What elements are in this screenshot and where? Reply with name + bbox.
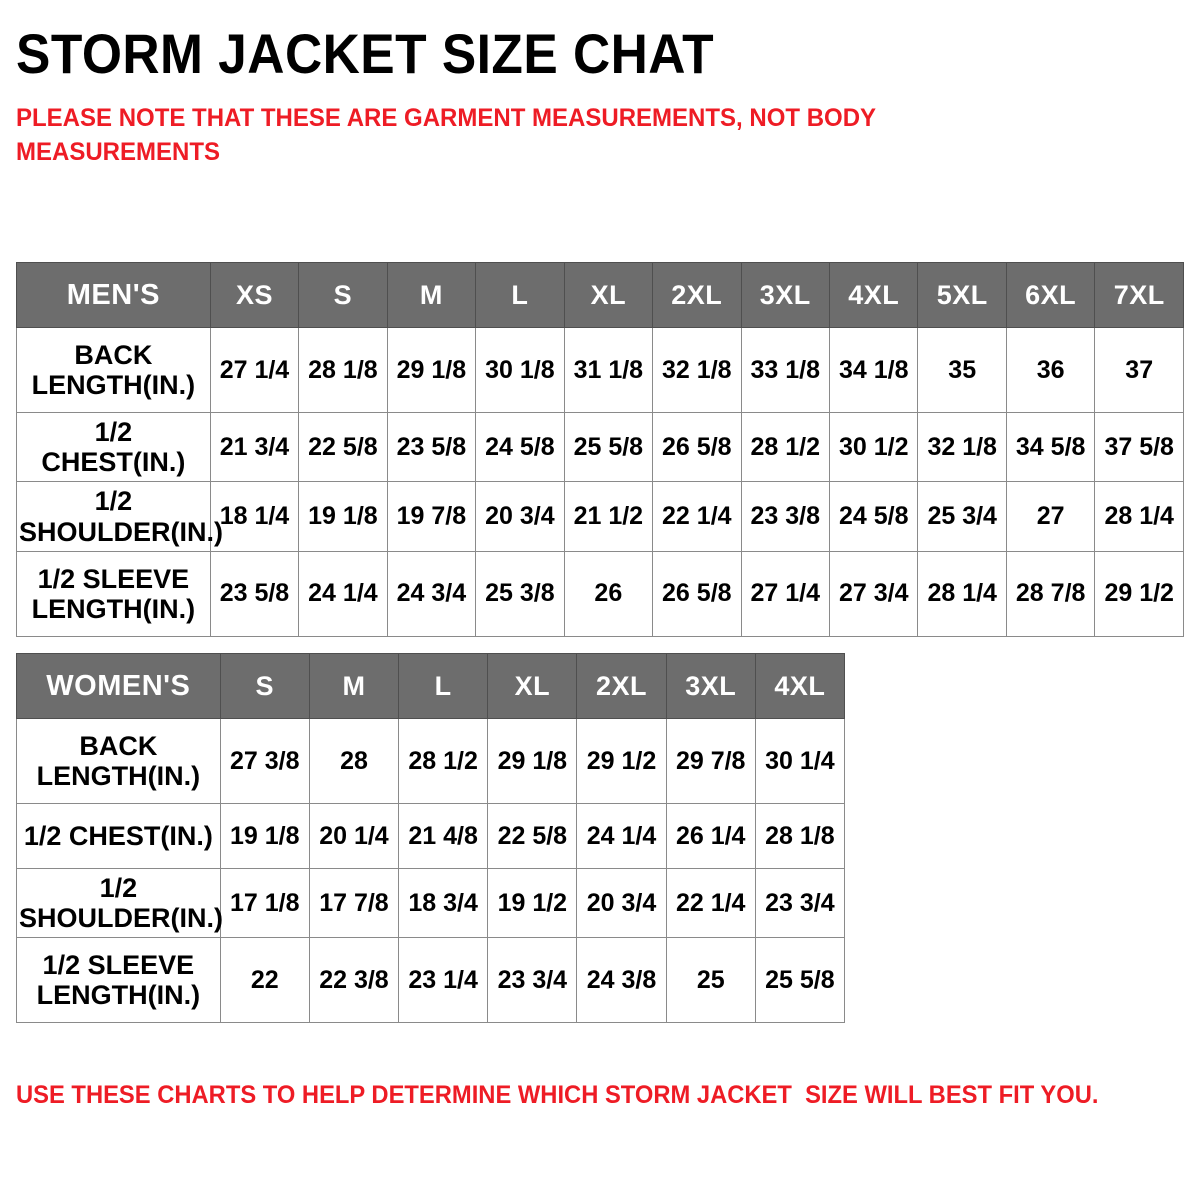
mens-size-table-container: MEN'S XS S M L XL 2XL 3XL 4XL 5XL 6XL 7X… bbox=[16, 262, 1184, 637]
mens-header-size-l: L bbox=[476, 263, 564, 328]
cell-mens-half-chest-s: 22 5/8 bbox=[299, 413, 387, 482]
mens-row-label-back-length: BACK LENGTH(IN.) bbox=[17, 328, 211, 413]
cell-womens-half-chest-4xl: 28 1/8 bbox=[755, 804, 844, 869]
mens-size-table: MEN'S XS S M L XL 2XL 3XL 4XL 5XL 6XL 7X… bbox=[16, 262, 1184, 637]
cell-womens-back-length-4xl: 30 1/4 bbox=[755, 719, 844, 804]
cell-womens-half-shoulder-xl: 19 1/2 bbox=[488, 869, 577, 938]
label-line-2: LENGTH(IN.) bbox=[32, 594, 195, 624]
table-row: 1/2 SLEEVE LENGTH(IN.) 22 22 3/8 23 1/4 … bbox=[17, 938, 845, 1023]
label-line-1: 1/2 SLEEVE bbox=[38, 564, 190, 594]
womens-header-label: WOMEN'S bbox=[17, 654, 221, 719]
cell-womens-back-length-2xl: 29 1/2 bbox=[577, 719, 666, 804]
womens-header-size-m: M bbox=[309, 654, 398, 719]
cell-mens-half-sleeve-6xl: 28 7/8 bbox=[1006, 551, 1094, 636]
womens-header-size-4xl: 4XL bbox=[755, 654, 844, 719]
mens-header-row: MEN'S XS S M L XL 2XL 3XL 4XL 5XL 6XL 7X… bbox=[17, 263, 1184, 328]
cell-womens-half-sleeve-xl: 23 3/4 bbox=[488, 938, 577, 1023]
cell-mens-half-chest-7xl: 37 5/8 bbox=[1095, 413, 1184, 482]
mens-header-size-4xl: 4XL bbox=[830, 263, 918, 328]
cell-womens-half-sleeve-l: 23 1/4 bbox=[399, 938, 488, 1023]
page-title: STORM JACKET SIZE CHAT bbox=[16, 0, 1091, 82]
cell-mens-back-length-l: 30 1/8 bbox=[476, 328, 564, 413]
cell-mens-half-sleeve-xl: 26 bbox=[564, 551, 652, 636]
cell-mens-half-chest-l: 24 5/8 bbox=[476, 413, 564, 482]
cell-mens-half-chest-xl: 25 5/8 bbox=[564, 413, 652, 482]
mens-header-label: MEN'S bbox=[17, 263, 211, 328]
cell-mens-half-shoulder-xs: 18 1/4 bbox=[210, 482, 298, 551]
label-line-1: 1/2 SLEEVE bbox=[43, 950, 195, 980]
label-line-2: LENGTH(IN.) bbox=[37, 761, 200, 791]
cell-mens-back-length-s: 28 1/8 bbox=[299, 328, 387, 413]
label-line-2: LENGTH(IN.) bbox=[32, 370, 195, 400]
cell-womens-half-sleeve-m: 22 3/8 bbox=[309, 938, 398, 1023]
cell-womens-half-sleeve-3xl: 25 bbox=[666, 938, 755, 1023]
cell-womens-half-chest-l: 21 4/8 bbox=[399, 804, 488, 869]
cell-mens-half-shoulder-l: 20 3/4 bbox=[476, 482, 564, 551]
cell-womens-half-shoulder-2xl: 20 3/4 bbox=[577, 869, 666, 938]
cell-mens-half-sleeve-xs: 23 5/8 bbox=[210, 551, 298, 636]
table-row: 1/2 SLEEVE LENGTH(IN.) 23 5/8 24 1/4 24 … bbox=[17, 551, 1184, 636]
label-line-1: BACK bbox=[74, 340, 152, 370]
mens-header-size-xs: XS bbox=[210, 263, 298, 328]
mens-row-label-half-sleeve-length: 1/2 SLEEVE LENGTH(IN.) bbox=[17, 551, 211, 636]
cell-mens-half-chest-6xl: 34 5/8 bbox=[1006, 413, 1094, 482]
mens-header-size-s: S bbox=[299, 263, 387, 328]
cell-mens-half-chest-xs: 21 3/4 bbox=[210, 413, 298, 482]
cell-mens-half-shoulder-6xl: 27 bbox=[1006, 482, 1094, 551]
mens-header-size-7xl: 7XL bbox=[1095, 263, 1184, 328]
cell-mens-half-chest-m: 23 5/8 bbox=[387, 413, 475, 482]
womens-size-table: WOMEN'S S M L XL 2XL 3XL 4XL BACK LENGTH… bbox=[16, 653, 845, 1023]
mens-header-size-6xl: 6XL bbox=[1006, 263, 1094, 328]
cell-womens-half-chest-3xl: 26 1/4 bbox=[666, 804, 755, 869]
cell-mens-half-sleeve-4xl: 27 3/4 bbox=[830, 551, 918, 636]
table-row: BACK LENGTH(IN.) 27 1/4 28 1/8 29 1/8 30… bbox=[17, 328, 1184, 413]
cell-mens-back-length-m: 29 1/8 bbox=[387, 328, 475, 413]
cell-mens-back-length-4xl: 34 1/8 bbox=[830, 328, 918, 413]
size-chart-page: STORM JACKET SIZE CHAT PLEASE NOTE THAT … bbox=[0, 0, 1200, 1200]
cell-womens-half-chest-m: 20 1/4 bbox=[309, 804, 398, 869]
cell-mens-half-chest-2xl: 26 5/8 bbox=[653, 413, 741, 482]
cell-womens-half-sleeve-4xl: 25 5/8 bbox=[755, 938, 844, 1023]
womens-header-size-2xl: 2XL bbox=[577, 654, 666, 719]
cell-womens-back-length-m: 28 bbox=[309, 719, 398, 804]
mens-header-size-5xl: 5XL bbox=[918, 263, 1006, 328]
cell-mens-half-sleeve-7xl: 29 1/2 bbox=[1095, 551, 1184, 636]
cell-womens-half-chest-s: 19 1/8 bbox=[220, 804, 309, 869]
table-row: BACK LENGTH(IN.) 27 3/8 28 28 1/2 29 1/8… bbox=[17, 719, 845, 804]
cell-womens-back-length-3xl: 29 7/8 bbox=[666, 719, 755, 804]
womens-header-row: WOMEN'S S M L XL 2XL 3XL 4XL bbox=[17, 654, 845, 719]
cell-womens-half-sleeve-2xl: 24 3/8 bbox=[577, 938, 666, 1023]
cell-mens-back-length-xl: 31 1/8 bbox=[564, 328, 652, 413]
table-row: 1/2 CHEST(IN.) 19 1/8 20 1/4 21 4/8 22 5… bbox=[17, 804, 845, 869]
cell-womens-half-chest-2xl: 24 1/4 bbox=[577, 804, 666, 869]
label-line-2: LENGTH(IN.) bbox=[37, 980, 200, 1010]
cell-mens-half-chest-4xl: 30 1/2 bbox=[830, 413, 918, 482]
mens-header-size-m: M bbox=[387, 263, 475, 328]
cell-mens-back-length-6xl: 36 bbox=[1006, 328, 1094, 413]
cell-womens-back-length-xl: 29 1/8 bbox=[488, 719, 577, 804]
cell-mens-half-sleeve-5xl: 28 1/4 bbox=[918, 551, 1006, 636]
mens-table-header: MEN'S XS S M L XL 2XL 3XL 4XL 5XL 6XL 7X… bbox=[17, 263, 1184, 328]
mens-row-label-half-chest: 1/2 CHEST(IN.) bbox=[17, 413, 211, 482]
cell-mens-half-shoulder-xl: 21 1/2 bbox=[564, 482, 652, 551]
table-row: 1/2 CHEST(IN.) 21 3/4 22 5/8 23 5/8 24 5… bbox=[17, 413, 1184, 482]
mens-table-body: BACK LENGTH(IN.) 27 1/4 28 1/8 29 1/8 30… bbox=[17, 328, 1184, 637]
cell-womens-half-shoulder-m: 17 7/8 bbox=[309, 869, 398, 938]
cell-womens-half-chest-xl: 22 5/8 bbox=[488, 804, 577, 869]
label-line-1: BACK bbox=[79, 731, 157, 761]
cell-mens-half-sleeve-m: 24 3/4 bbox=[387, 551, 475, 636]
cell-womens-half-shoulder-3xl: 22 1/4 bbox=[666, 869, 755, 938]
cell-womens-half-shoulder-l: 18 3/4 bbox=[399, 869, 488, 938]
cell-womens-back-length-l: 28 1/2 bbox=[399, 719, 488, 804]
cell-mens-half-sleeve-3xl: 27 1/4 bbox=[741, 551, 829, 636]
womens-header-size-s: S bbox=[220, 654, 309, 719]
cell-mens-half-shoulder-3xl: 23 3/8 bbox=[741, 482, 829, 551]
usage-note: USE THESE CHARTS TO HELP DETERMINE WHICH… bbox=[16, 1080, 1098, 1110]
cell-mens-half-sleeve-2xl: 26 5/8 bbox=[653, 551, 741, 636]
womens-header-size-l: L bbox=[399, 654, 488, 719]
cell-mens-back-length-7xl: 37 bbox=[1095, 328, 1184, 413]
garment-measurement-note: PLEASE NOTE THAT THESE ARE GARMENT MEASU… bbox=[16, 82, 938, 170]
cell-mens-half-shoulder-s: 19 1/8 bbox=[299, 482, 387, 551]
womens-row-label-back-length: BACK LENGTH(IN.) bbox=[17, 719, 221, 804]
cell-mens-back-length-5xl: 35 bbox=[918, 328, 1006, 413]
womens-row-label-half-chest: 1/2 CHEST(IN.) bbox=[17, 804, 221, 869]
cell-mens-half-shoulder-7xl: 28 1/4 bbox=[1095, 482, 1184, 551]
cell-mens-half-chest-3xl: 28 1/2 bbox=[741, 413, 829, 482]
table-row: 1/2 SHOULDER(IN.) 18 1/4 19 1/8 19 7/8 2… bbox=[17, 482, 1184, 551]
womens-row-label-half-sleeve-length: 1/2 SLEEVE LENGTH(IN.) bbox=[17, 938, 221, 1023]
mens-header-size-2xl: 2XL bbox=[653, 263, 741, 328]
mens-header-size-xl: XL bbox=[564, 263, 652, 328]
womens-header-size-xl: XL bbox=[488, 654, 577, 719]
cell-mens-half-shoulder-2xl: 22 1/4 bbox=[653, 482, 741, 551]
womens-header-size-3xl: 3XL bbox=[666, 654, 755, 719]
cell-mens-half-shoulder-m: 19 7/8 bbox=[387, 482, 475, 551]
cell-mens-half-chest-5xl: 32 1/8 bbox=[918, 413, 1006, 482]
cell-womens-half-shoulder-4xl: 23 3/4 bbox=[755, 869, 844, 938]
cell-womens-half-shoulder-s: 17 1/8 bbox=[220, 869, 309, 938]
womens-table-header: WOMEN'S S M L XL 2XL 3XL 4XL bbox=[17, 654, 845, 719]
cell-mens-half-sleeve-s: 24 1/4 bbox=[299, 551, 387, 636]
cell-mens-back-length-3xl: 33 1/8 bbox=[741, 328, 829, 413]
cell-mens-back-length-xs: 27 1/4 bbox=[210, 328, 298, 413]
womens-row-label-half-shoulder: 1/2 SHOULDER(IN.) bbox=[17, 869, 221, 938]
cell-mens-half-sleeve-l: 25 3/8 bbox=[476, 551, 564, 636]
womens-size-table-container: WOMEN'S S M L XL 2XL 3XL 4XL BACK LENGTH… bbox=[16, 653, 845, 1023]
cell-mens-half-shoulder-4xl: 24 5/8 bbox=[830, 482, 918, 551]
mens-header-size-3xl: 3XL bbox=[741, 263, 829, 328]
cell-womens-back-length-s: 27 3/8 bbox=[220, 719, 309, 804]
cell-mens-back-length-2xl: 32 1/8 bbox=[653, 328, 741, 413]
table-row: 1/2 SHOULDER(IN.) 17 1/8 17 7/8 18 3/4 1… bbox=[17, 869, 845, 938]
cell-womens-half-sleeve-s: 22 bbox=[220, 938, 309, 1023]
womens-table-body: BACK LENGTH(IN.) 27 3/8 28 28 1/2 29 1/8… bbox=[17, 719, 845, 1023]
cell-mens-half-shoulder-5xl: 25 3/4 bbox=[918, 482, 1006, 551]
mens-row-label-half-shoulder: 1/2 SHOULDER(IN.) bbox=[17, 482, 211, 551]
